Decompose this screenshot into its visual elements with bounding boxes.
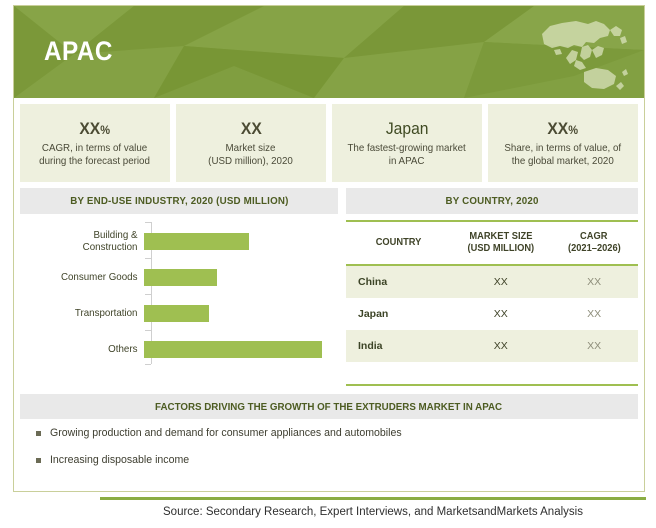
table-row: Japan XX XX [346, 298, 638, 330]
region-header-banner: APAC [14, 6, 644, 98]
factors-list: Growing production and demand for consum… [36, 426, 626, 480]
bar-fill [144, 269, 217, 286]
axis-tick [145, 222, 151, 223]
stat-card-fastest-growing: Japan The fastest-growing market in APAC [332, 104, 482, 182]
bar-label-line: Consumer Goods [29, 271, 138, 283]
stat-value: XX% [548, 119, 579, 140]
source-note: Source: Secondary Research, Expert Inter… [100, 506, 646, 518]
stat-description-line1: CAGR, in terms of value [40, 142, 151, 155]
stat-card-cagr: XX% CAGR, in terms of value during the f… [20, 104, 170, 182]
stat-value-suffix: % [101, 123, 111, 137]
bar-fill [144, 233, 249, 250]
cell-cagr: XX [550, 330, 638, 362]
stat-description-line1: Market size [209, 142, 294, 155]
table-header-market-size: MARKET SIZE (USD MILLION) [451, 222, 550, 265]
stat-value-number: XX [548, 119, 569, 138]
stat-description-line2: the global market, 2020 [505, 155, 622, 168]
stat-card-market-size: XX Market size (USD million), 2020 [176, 104, 326, 182]
table-row: India XX XX [346, 330, 638, 362]
stat-value-number: XX [80, 119, 101, 138]
bar-fill [144, 305, 209, 322]
stat-description-line2: (USD million), 2020 [209, 155, 294, 168]
bullet-icon [36, 458, 41, 463]
cell-country: Japan [346, 298, 451, 330]
section-header-label: BY END-USE INDUSTRY, 2020 (USD MILLION) [70, 195, 288, 207]
bar-row: Transportation [20, 296, 338, 330]
factor-text: Growing production and demand for consum… [50, 426, 402, 440]
stat-value: Japan [386, 119, 429, 140]
stat-value-suffix: % [569, 123, 579, 137]
stat-value-number: XX [241, 119, 262, 138]
cell-cagr: XX [550, 298, 638, 330]
bar-label: Building & Construction [29, 229, 144, 253]
stat-description-line1: Share, in terms of value, of [505, 142, 622, 155]
asia-pacific-map-icon [524, 12, 636, 96]
bar-label-line: Others [29, 343, 138, 355]
stat-description-line2: in APAC [348, 155, 466, 168]
bar-row: Building & Construction [20, 224, 338, 258]
bar-label: Transportation [29, 307, 144, 319]
table-header-line: CAGR [580, 231, 607, 243]
axis-tick [145, 258, 151, 259]
stat-value-number: Japan [386, 119, 429, 138]
bullet-icon [36, 431, 41, 436]
page-title: APAC [44, 36, 113, 67]
bar-track [144, 332, 338, 366]
section-header-by-country: BY COUNTRY, 2020 [346, 188, 638, 214]
key-stats-row: XX% CAGR, in terms of value during the f… [14, 104, 644, 182]
section-header-factors: FACTORS DRIVING THE GROWTH OF THE EXTRUD… [20, 394, 638, 419]
bar-label-line: Transportation [29, 307, 138, 319]
stat-value: XX% [80, 119, 111, 140]
table-row: China XX XX [346, 265, 638, 298]
country-table: COUNTRY MARKET SIZE (USD MILLION) CAGR (… [346, 220, 638, 386]
cell-cagr: XX [550, 265, 638, 298]
stat-description: CAGR, in terms of value during the forec… [40, 142, 151, 168]
table-header-line: (2021–2026) [568, 243, 621, 255]
table-header-country: COUNTRY [346, 222, 451, 265]
section-header-label: BY COUNTRY, 2020 [445, 195, 538, 207]
cell-country: China [346, 265, 451, 298]
stat-description: The fastest-growing market in APAC [348, 142, 466, 168]
bar-track [144, 296, 338, 330]
bar-label: Consumer Goods [29, 271, 144, 283]
bar-label-line: Construction [29, 241, 138, 253]
bar-label-line: Building & [29, 229, 138, 241]
stat-description: Market size (USD million), 2020 [209, 142, 294, 168]
table-header-cagr: CAGR (2021–2026) [550, 222, 638, 265]
list-item: Increasing disposable income [36, 453, 626, 467]
axis-tick [145, 330, 151, 331]
cell-market-size: XX [451, 330, 550, 362]
section-headers-row: BY END-USE INDUSTRY, 2020 (USD MILLION) … [14, 188, 644, 214]
bar-fill [144, 341, 322, 358]
bar-row: Others [20, 332, 338, 366]
stat-description-line2: during the forecast period [40, 155, 151, 168]
infographic-card: APAC XX% CAGR, in terms of value during … [13, 5, 645, 492]
bar-row: Consumer Goods [20, 260, 338, 294]
cell-country: India [346, 330, 451, 362]
section-header-label: FACTORS DRIVING THE GROWTH OF THE EXTRUD… [155, 401, 502, 413]
bar-track [144, 224, 338, 258]
stat-card-global-share: XX% Share, in terms of value, of the glo… [488, 104, 638, 182]
table-header-line: MARKET SIZE [469, 231, 532, 243]
stat-description-line1: The fastest-growing market [348, 142, 466, 155]
factor-text: Increasing disposable income [50, 453, 189, 467]
table-header-line: (USD MILLION) [467, 243, 534, 255]
axis-tick [145, 294, 151, 295]
cell-market-size: XX [451, 265, 550, 298]
section-header-end-use-industry: BY END-USE INDUSTRY, 2020 (USD MILLION) [20, 188, 338, 214]
table-header-line: COUNTRY [376, 237, 422, 249]
bar-track [144, 260, 338, 294]
table-header-row: COUNTRY MARKET SIZE (USD MILLION) CAGR (… [346, 222, 638, 265]
stat-description: Share, in terms of value, of the global … [505, 142, 622, 168]
bar-label: Others [29, 343, 144, 355]
footer-divider [100, 497, 646, 500]
cell-market-size: XX [451, 298, 550, 330]
stat-value: XX [241, 119, 262, 140]
list-item: Growing production and demand for consum… [36, 426, 626, 440]
end-use-industry-bar-chart: Building & Construction Consumer Goods T… [20, 220, 338, 368]
